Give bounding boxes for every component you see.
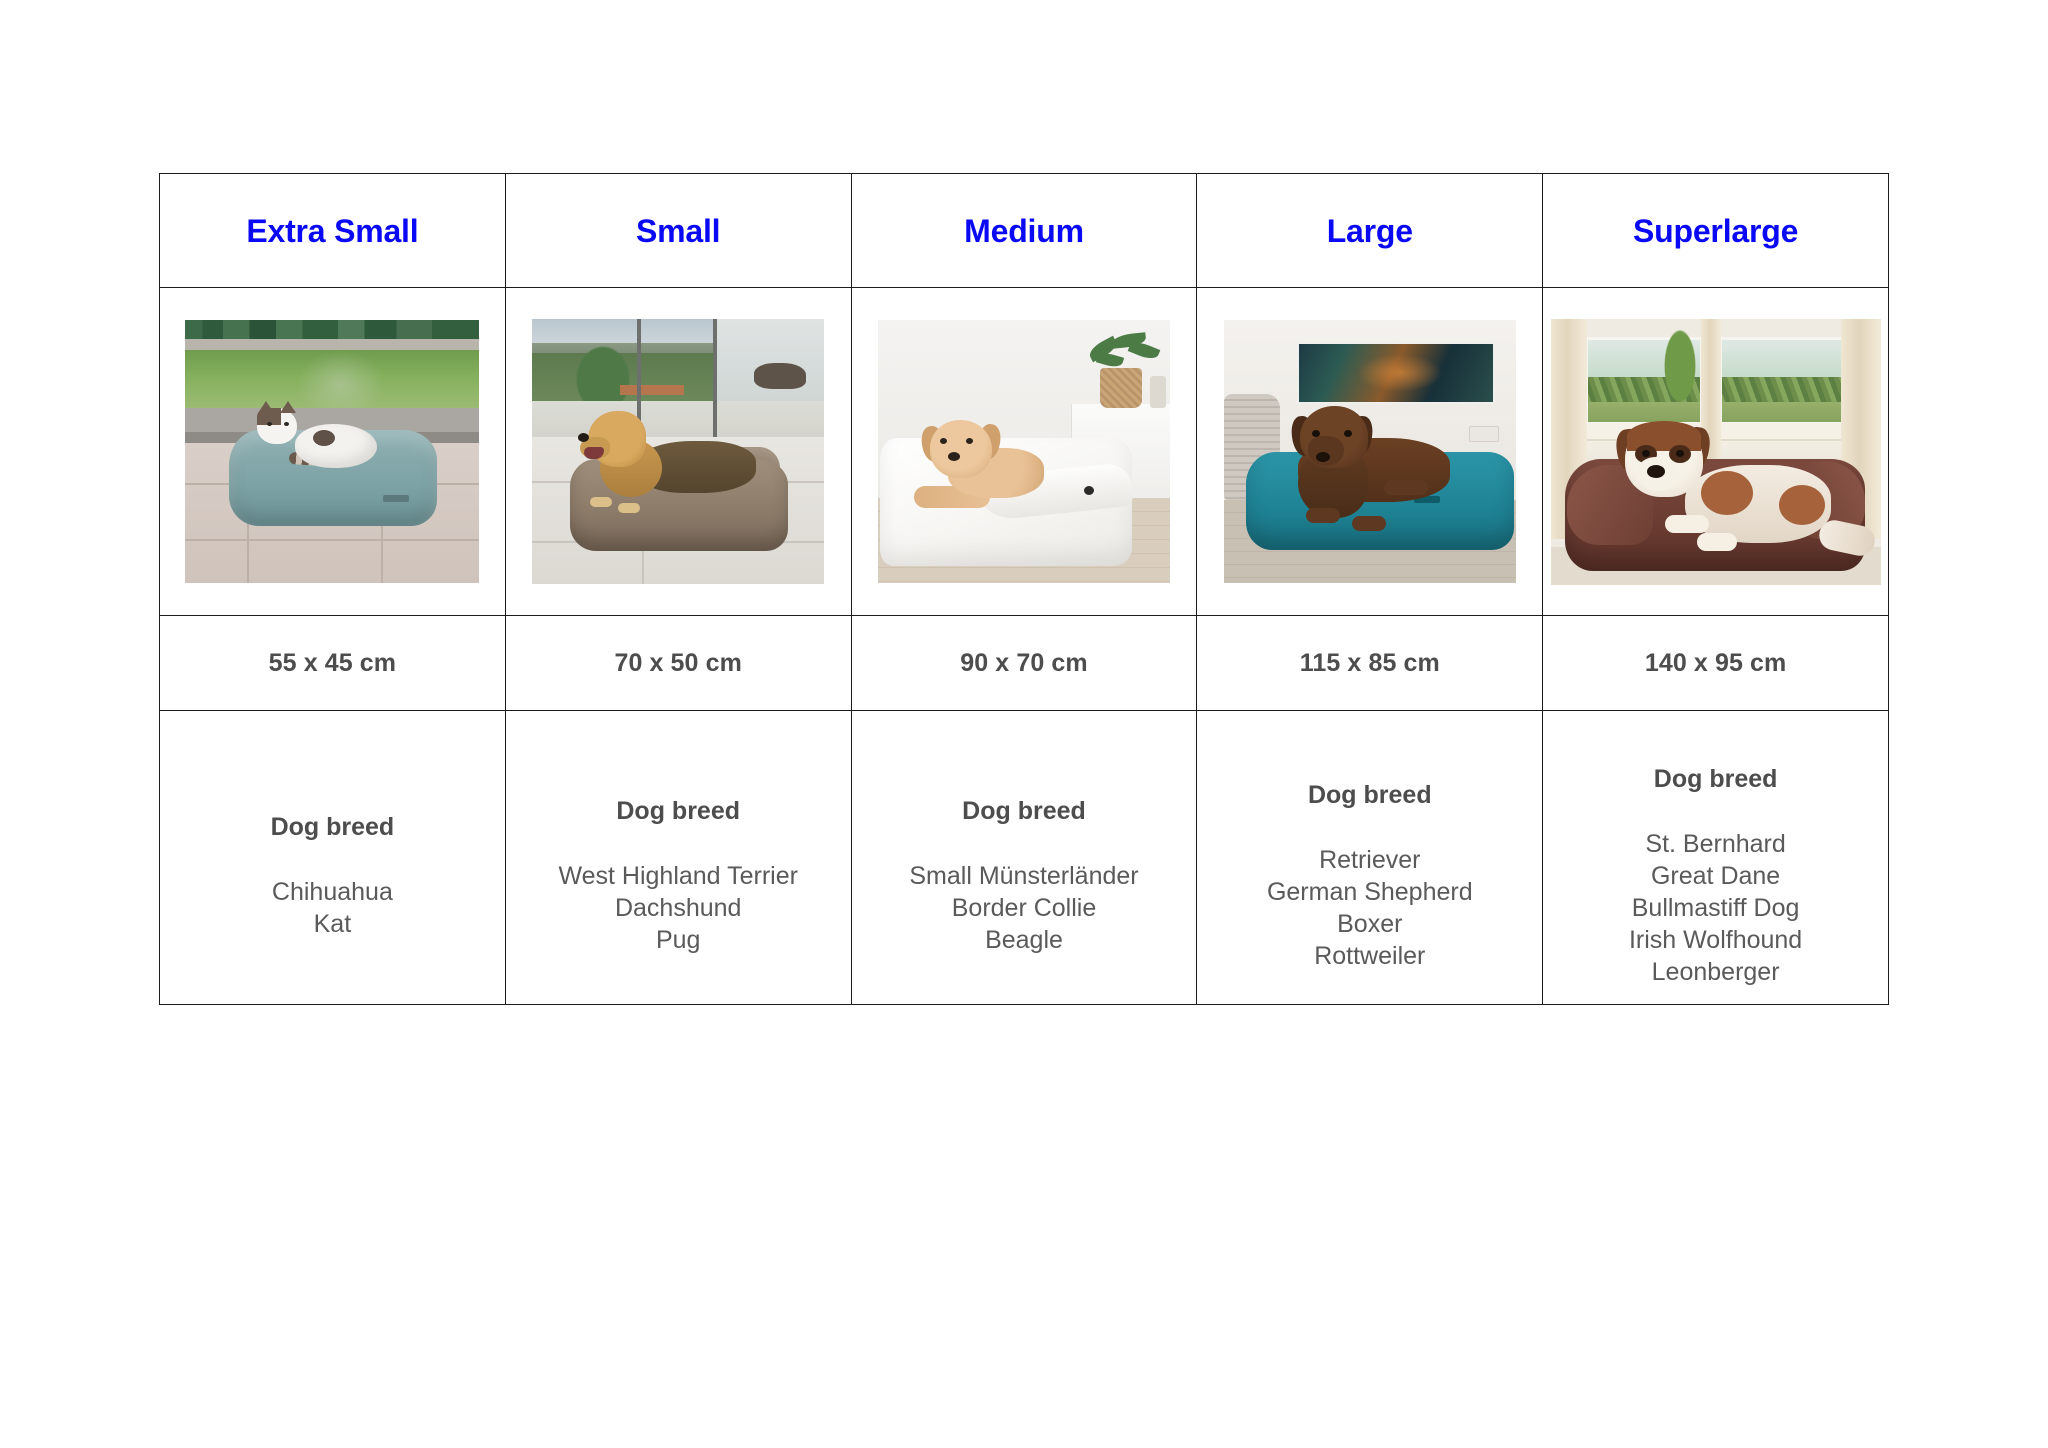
dog-eye-right — [1676, 450, 1684, 457]
breed-item: German Shepherd — [1197, 876, 1542, 908]
photo-cell-extra-small — [160, 288, 506, 616]
candle — [1150, 376, 1166, 408]
breed-cell-large: Dog breed Retriever German Shepherd Boxe… — [1197, 711, 1543, 1005]
breed-item: Pug — [506, 924, 851, 956]
dog-paw-rear — [1384, 480, 1428, 495]
dog-nose — [1647, 465, 1665, 478]
dimension-cell-superlarge: 140 x 95 cm — [1543, 616, 1889, 711]
breed-heading: Dog breed — [1543, 765, 1888, 794]
dog-eye-left — [1642, 450, 1650, 457]
breed-item: Border Collie — [852, 892, 1197, 924]
dog-nose — [1316, 452, 1330, 462]
dog-body-spot — [1779, 485, 1825, 525]
size-header-label: Small — [506, 215, 851, 247]
power-outlet — [1469, 426, 1499, 442]
dog-eye-left — [1312, 430, 1320, 437]
breed-heading: Dog breed — [1197, 781, 1542, 810]
dimension-cell-medium: 90 x 70 cm — [851, 616, 1197, 711]
product-photo-superlarge — [1551, 319, 1881, 585]
breed-cell-superlarge: Dog breed St. Bernhard Great Dane Bullma… — [1543, 711, 1889, 1005]
lawn — [1722, 402, 1842, 422]
woven-plant-pot — [1100, 368, 1142, 408]
table-dimension-row: 55 x 45 cm 70 x 50 cm 90 x 70 cm 115 x 8… — [160, 616, 1889, 711]
breed-cell-extra-small: Dog breed Chihuahua Kat — [160, 711, 506, 1005]
breed-item: Kat — [160, 908, 505, 940]
dog-paw-front-right — [1697, 533, 1737, 551]
dimension-cell-extra-small: 55 x 45 cm — [160, 616, 506, 711]
dog-paw-front — [590, 497, 612, 507]
breed-list-small: West Highland Terrier Dachshund Pug — [506, 860, 851, 956]
header-cell-small: Small — [505, 174, 851, 288]
lawn — [1588, 402, 1700, 422]
breed-cell-medium: Dog breed Small Münsterländer Border Col… — [851, 711, 1197, 1005]
breed-item: Leonberger — [1543, 956, 1888, 988]
breed-heading: Dog breed — [160, 813, 505, 842]
table-breed-row: Dog breed Chihuahua Kat Dog breed West H… — [160, 711, 1889, 1005]
breed-item: Bullmastiff Dog — [1543, 892, 1888, 924]
dimension-cell-large: 115 x 85 cm — [1197, 616, 1543, 711]
product-photo-large — [1224, 320, 1516, 583]
dog-body-spot — [1701, 471, 1753, 515]
dimension-label: 140 x 95 cm — [1543, 649, 1888, 678]
breed-item: Chihuahua — [160, 876, 505, 908]
breed-item: Boxer — [1197, 908, 1542, 940]
puppy-nose — [948, 452, 960, 461]
page-canvas: Extra Small Small Medium Large Superlarg… — [0, 0, 2048, 1448]
breed-item: Great Dane — [1543, 860, 1888, 892]
bed-label-tag — [1084, 486, 1094, 495]
puppy-eye-right — [966, 438, 973, 444]
header-cell-medium: Medium — [851, 174, 1197, 288]
garden-tree — [1663, 327, 1697, 405]
breed-cell-small: Dog breed West Highland Terrier Dachshun… — [505, 711, 851, 1005]
dimension-cell-small: 70 x 50 cm — [505, 616, 851, 711]
header-cell-superlarge: Superlarge — [1543, 174, 1889, 288]
size-header-label: Extra Small — [160, 215, 505, 247]
dog-paw-rear — [618, 503, 640, 513]
breed-item: Rottweiler — [1197, 940, 1542, 972]
photo-cell-small — [505, 288, 851, 616]
breed-item: Beagle — [852, 924, 1197, 956]
photo-cell-medium — [851, 288, 1197, 616]
breed-item: St. Bernhard — [1543, 828, 1888, 860]
dimension-label: 90 x 70 cm — [852, 649, 1197, 678]
header-cell-extra-small: Extra Small — [160, 174, 506, 288]
treeline — [532, 353, 713, 405]
size-header-label: Medium — [852, 215, 1197, 247]
table-header-row: Extra Small Small Medium Large Superlarg… — [160, 174, 1889, 288]
breed-item: Retriever — [1197, 844, 1542, 876]
size-header-label: Superlarge — [1543, 215, 1888, 247]
breed-item: West Highland Terrier — [506, 860, 851, 892]
breed-list-medium: Small Münsterländer Border Collie Beagle — [852, 860, 1197, 956]
puppy-head — [930, 420, 992, 478]
dog-paw-front-left — [1665, 515, 1709, 533]
product-photo-medium — [878, 320, 1170, 583]
breed-item: Irish Wolfhound — [1543, 924, 1888, 956]
breed-item: Small Münsterländer — [852, 860, 1197, 892]
photo-cell-superlarge — [1543, 288, 1889, 616]
window-right — [1719, 337, 1845, 425]
puppy-eye-left — [940, 438, 947, 444]
dimension-label: 55 x 45 cm — [160, 649, 505, 678]
breed-item: Dachshund — [506, 892, 851, 924]
dog-paw-front-right — [1352, 516, 1386, 531]
dog-eye-right — [1344, 430, 1352, 437]
breed-list-superlarge: St. Bernhard Great Dane Bullmastiff Dog … — [1543, 828, 1888, 988]
product-photo-small — [532, 319, 824, 584]
rooftop — [620, 385, 684, 395]
dog-head-marking — [1627, 421, 1701, 451]
photo-cell-large — [1197, 288, 1543, 616]
size-header-label: Large — [1197, 215, 1542, 247]
dog-bed-size-table: Extra Small Small Medium Large Superlarg… — [159, 173, 1889, 1005]
lawn — [185, 350, 479, 408]
product-photo-extra-small — [185, 320, 479, 583]
cat-body — [295, 424, 377, 468]
table-photo-row — [160, 288, 1889, 616]
header-cell-large: Large — [1197, 174, 1543, 288]
dimension-label: 70 x 50 cm — [506, 649, 851, 678]
breed-heading: Dog breed — [506, 797, 851, 826]
wall-artwork — [1297, 342, 1496, 404]
dimension-label: 115 x 85 cm — [1197, 649, 1542, 678]
garden-rock — [754, 363, 806, 389]
breed-heading: Dog breed — [852, 797, 1197, 826]
breed-list-extra-small: Chihuahua Kat — [160, 876, 505, 940]
breed-list-large: Retriever German Shepherd Boxer Rottweil… — [1197, 844, 1542, 972]
dog-paw-front-left — [1306, 508, 1340, 523]
